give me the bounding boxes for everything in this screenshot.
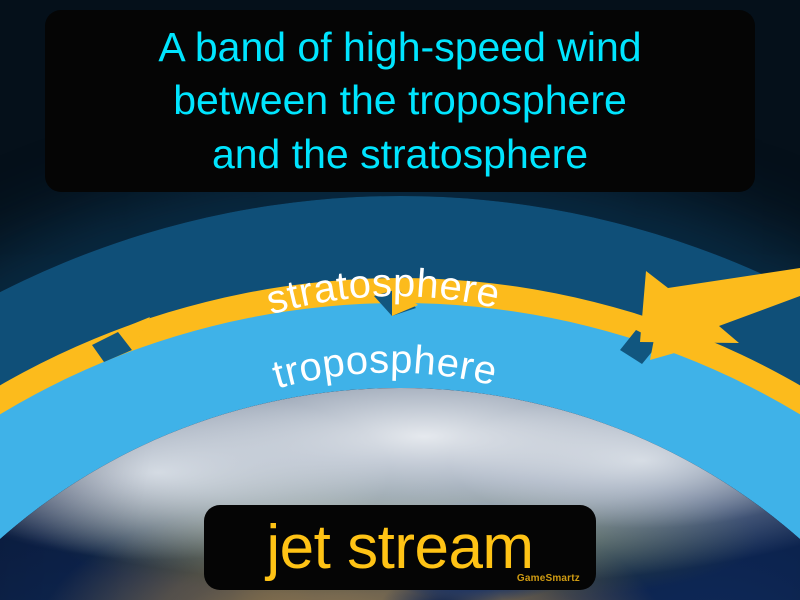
definition-card: stratosphere troposphere A band of high-… [0, 0, 800, 600]
term-box: jet stream GameSmartz [204, 505, 596, 590]
definition-text: A band of high-speed wind between the tr… [144, 21, 655, 181]
definition-box: A band of high-speed wind between the tr… [45, 10, 755, 192]
watermark-label: GameSmartz [517, 573, 580, 584]
